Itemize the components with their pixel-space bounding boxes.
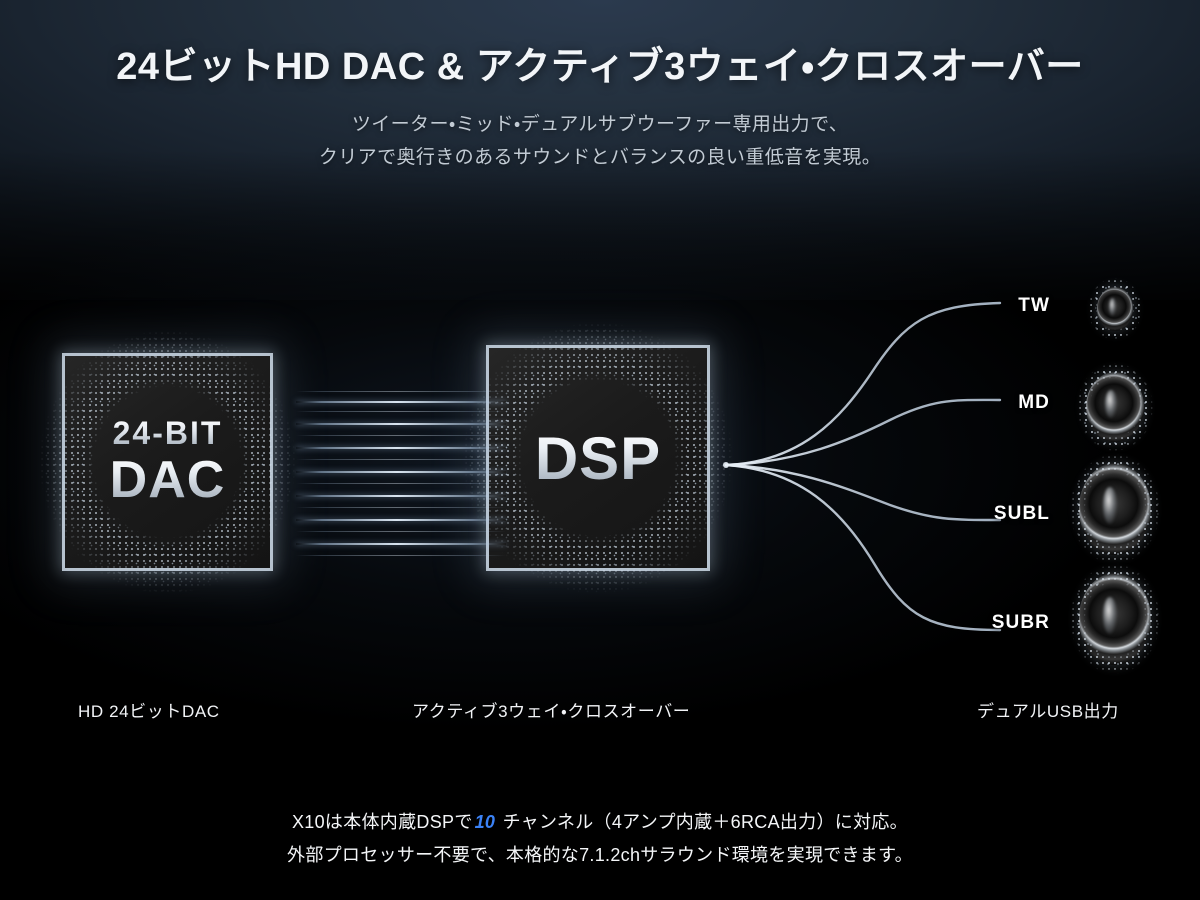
footer-channel-count: 10 bbox=[473, 812, 498, 832]
subtitle-line-1: ツイーター・ミッド・デュアルサブウーファー専用出力で、 bbox=[352, 114, 848, 135]
footer-line1-before: X10は本体内蔵DSPで bbox=[292, 812, 473, 832]
promo-graphic: 24ビットHD DAC & アクティブ3ウェイ・クロスオーバー ツイーター・ミッ… bbox=[0, 0, 1200, 900]
subtitle-line-2: クリアで奥行きのあるサウンドとバランスの良い重低音を実現。 bbox=[319, 147, 881, 168]
speaker-subwoofer-left-icon bbox=[1079, 463, 1151, 555]
output-label-subr: SUBR bbox=[935, 612, 1050, 634]
output-label-subl: SUBL bbox=[935, 503, 1050, 525]
curve-to-tw bbox=[726, 303, 1000, 465]
page-subtitle: ツイーター・ミッド・デュアルサブウーファー専用出力で、 クリアで奥行きのあるサウ… bbox=[0, 92, 1200, 175]
speaker-tweeter-icon bbox=[1097, 287, 1133, 331]
caption-dsp: アクティブ3ウェイ・クロスオーバー bbox=[412, 697, 690, 722]
caption-usb: デュアルUSB出力 bbox=[977, 697, 1119, 722]
output-label-tw: TW bbox=[955, 295, 1050, 317]
footer-line1-after: チャンネル（4アンプ内蔵＋6RCA出力）に対応。 bbox=[503, 812, 908, 832]
footer-line-2: 外部プロセッサー不要で、本格的な7.1.2chサラウンド環境を実現できます。 bbox=[0, 839, 1200, 872]
speaker-midrange-icon bbox=[1086, 372, 1144, 442]
data-stream-lines bbox=[296, 385, 506, 570]
output-label-md: MD bbox=[955, 392, 1050, 414]
page-title: 24ビットHD DAC & アクティブ3ウェイ・クロスオーバー bbox=[0, 0, 1200, 92]
header-block: 24ビットHD DAC & アクティブ3ウェイ・クロスオーバー ツイーター・ミッ… bbox=[0, 0, 1200, 174]
footer-line-1: X10は本体内蔵DSPで10 チャンネル（4アンプ内蔵＋6RCA出力）に対応。 bbox=[0, 806, 1200, 839]
footer-block: X10は本体内蔵DSPで10 チャンネル（4アンプ内蔵＋6RCA出力）に対応。 … bbox=[0, 806, 1200, 873]
caption-dac: HD 24ビットDAC bbox=[78, 697, 220, 722]
speaker-subwoofer-right-icon bbox=[1079, 573, 1151, 665]
fanout-origin-node bbox=[723, 462, 729, 468]
curve-to-subr bbox=[726, 465, 1000, 630]
